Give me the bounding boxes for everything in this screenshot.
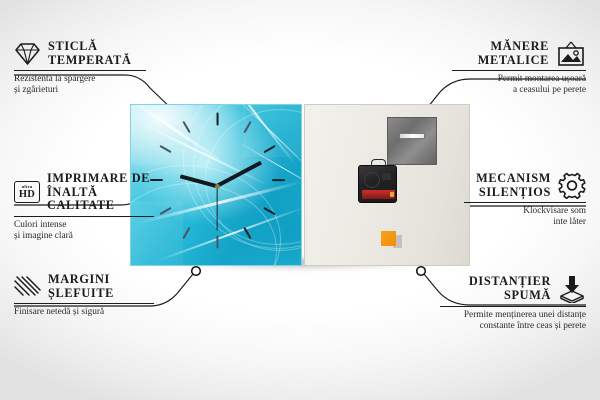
feature-divider bbox=[14, 70, 146, 71]
mechanism-dial bbox=[364, 172, 380, 188]
feature-title: STICLĂ TEMPERATĂ bbox=[48, 40, 132, 67]
product-image bbox=[130, 104, 470, 266]
battery bbox=[362, 190, 395, 199]
clock-mechanism bbox=[358, 165, 397, 203]
mechanism-hang-loop bbox=[371, 159, 386, 168]
feature-divider bbox=[440, 306, 586, 307]
feature-hd-printing: ultra HD IMPRIMARE DE ÎNALTĂ CALITATE Cu… bbox=[14, 172, 154, 242]
diagonal-lines-icon bbox=[14, 276, 41, 298]
foam-spacer bbox=[381, 231, 396, 246]
arrow-onto-pad-icon bbox=[558, 275, 586, 303]
clock-tick-6 bbox=[216, 236, 218, 249]
clock-pivot bbox=[215, 184, 220, 189]
ultra-hd-badge-icon: ultra HD bbox=[14, 181, 40, 203]
feature-metal-handles: MĂNERE METALICE Permit montarea ușoară a… bbox=[452, 40, 586, 97]
feature-title: DISTANȚIER SPUMĂ bbox=[469, 275, 551, 302]
feature-tempered-glass: STICLĂ TEMPERATĂ Rezistentă la spargere … bbox=[14, 40, 146, 97]
infographic-canvas: STICLĂ TEMPERATĂ Rezistentă la spargere … bbox=[0, 0, 600, 400]
feature-subtitle: Klockvisare som inte låter bbox=[464, 206, 586, 228]
feature-subtitle: Finisare netedă și sigură bbox=[14, 307, 154, 318]
feature-title: IMPRIMARE DE ÎNALTĂ CALITATE bbox=[47, 172, 154, 213]
feature-subtitle: Culori intense și imagine clară bbox=[14, 220, 154, 242]
feature-divider bbox=[464, 202, 586, 203]
clock-tick-3 bbox=[272, 179, 285, 181]
feature-silent-mechanism: MECANISM SILENȚIOS Klockvisare som inte … bbox=[464, 172, 586, 229]
hd-badge-main-label: HD bbox=[19, 190, 35, 201]
framed-picture-hanging-icon bbox=[556, 41, 586, 67]
clock-back-panel bbox=[304, 104, 470, 266]
feature-title: MECANISM SILENȚIOS bbox=[476, 172, 551, 199]
hanger-slot bbox=[399, 133, 425, 139]
feature-title: MARGINI ȘLEFUITE bbox=[48, 273, 114, 300]
feature-divider bbox=[452, 70, 586, 71]
mechanism-contact bbox=[382, 173, 391, 180]
feature-divider bbox=[14, 303, 154, 304]
clock-front-panel bbox=[130, 104, 302, 266]
clock-second-hand bbox=[216, 187, 217, 231]
feature-polished-edges: MARGINI ȘLEFUITE Finisare netedă și sigu… bbox=[14, 273, 154, 318]
gear-icon bbox=[558, 172, 586, 199]
diamond-icon bbox=[14, 42, 41, 66]
feature-subtitle: Permite menținerea unei distanțe constan… bbox=[440, 310, 586, 332]
feature-title: MĂNERE METALICE bbox=[478, 40, 549, 67]
feature-divider bbox=[14, 216, 154, 217]
feature-subtitle: Rezistentă la spargere și zgârieturi bbox=[14, 74, 146, 96]
feature-foam-spacer: DISTANȚIER SPUMĂ Permite menținerea unei… bbox=[440, 275, 586, 332]
metal-hanger-plate bbox=[387, 117, 437, 165]
feature-subtitle: Permit montarea ușoară a ceasului pe per… bbox=[452, 74, 586, 96]
clock-tick-12 bbox=[216, 113, 218, 126]
battery-terminal bbox=[390, 192, 394, 197]
